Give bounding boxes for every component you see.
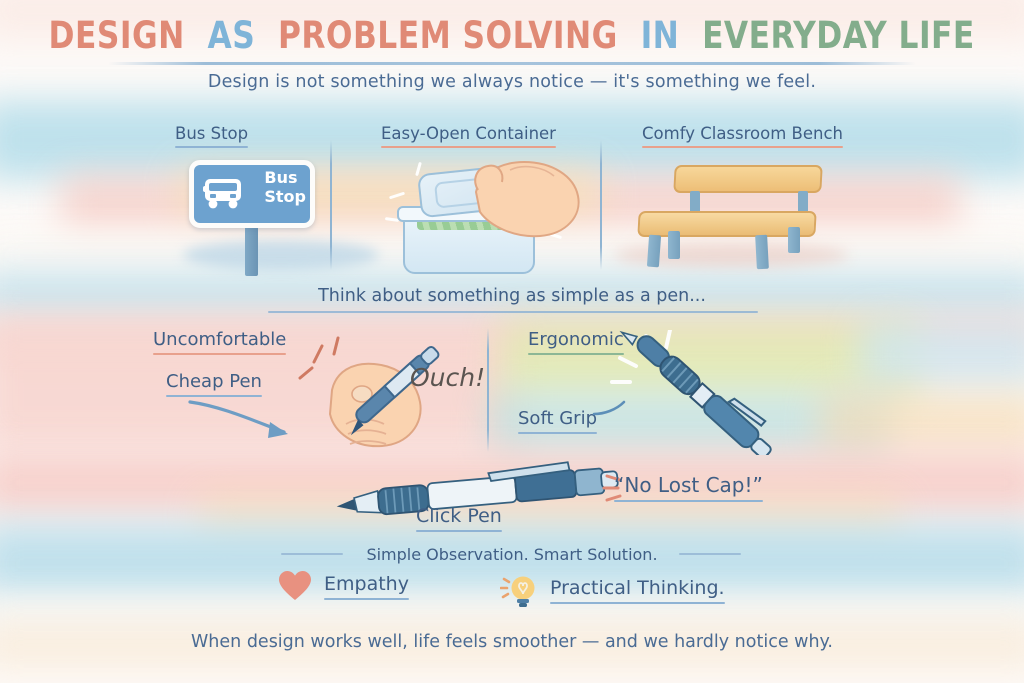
- mid-statement-underline: [268, 311, 758, 313]
- practical-thinking-label-wrap: Practical Thinking.: [550, 577, 725, 604]
- bus-sign-line1: Bus: [264, 168, 297, 187]
- wash-tan-right-pen: [820, 392, 1024, 452]
- bus-sign-text: Bus Stop: [264, 168, 306, 206]
- label-container-underline: [381, 146, 556, 148]
- hand-opening-container-icon: [470, 150, 590, 250]
- label-bench-underline: [642, 146, 843, 148]
- label-bus-stop-text: Bus Stop: [175, 124, 248, 143]
- bus-stop-sign: Bus Stop: [189, 160, 315, 228]
- label-uncomfortable-underline: [153, 353, 286, 355]
- label-comfy-classroom-bench: Comfy Classroom Bench: [642, 124, 843, 148]
- page-title-wrapper: DESIGN AS PROBLEM SOLVING IN EVERYDAY LI…: [0, 14, 1024, 57]
- hand-holding-pen-illustration: [290, 332, 490, 457]
- bench-illustration: [632, 165, 832, 265]
- empathy-label: Empathy: [324, 573, 409, 595]
- exclaim-ouch: Ouch!: [410, 363, 485, 392]
- title-underline: [108, 62, 916, 65]
- bench-leg: [788, 227, 800, 253]
- label-uncomfortable-text: Uncomfortable: [153, 329, 286, 350]
- label-click-pen-text: Click Pen: [416, 505, 502, 527]
- page-footer: When design works well, life feels smoot…: [0, 632, 1024, 652]
- label-easy-open-container: Easy-Open Container: [381, 124, 556, 148]
- label-cheap-pen: Cheap Pen: [166, 371, 262, 397]
- empathy-label-wrap: Empathy: [324, 573, 409, 600]
- divider-row1-right: [600, 140, 602, 270]
- heart-icon: [278, 570, 312, 602]
- label-bench-text: Comfy Classroom Bench: [642, 124, 843, 143]
- wash-blue-right-edge: [860, 320, 1024, 390]
- ergonomic-pen-illustration: [600, 330, 800, 455]
- lightbulb-icon: [500, 570, 540, 610]
- callout-no-lost-cap-text: “No Lost Cap!”: [614, 473, 763, 497]
- divider-row1-left: [330, 140, 332, 270]
- practical-thinking-label: Practical Thinking.: [550, 577, 725, 599]
- label-soft-grip-text: Soft Grip: [518, 408, 597, 429]
- empathy-underline: [324, 598, 409, 600]
- banner-rule-right: [679, 553, 741, 555]
- page-subtitle: Design is not something we always notice…: [0, 72, 1024, 92]
- bench-leg: [755, 235, 769, 270]
- mid-statement: Think about something as simple as a pen…: [0, 286, 1024, 306]
- bus-sign-post: [245, 226, 258, 276]
- label-container-text: Easy-Open Container: [381, 124, 556, 143]
- label-cheap-pen-text: Cheap Pen: [166, 371, 262, 392]
- callout-no-lost-cap: “No Lost Cap!”: [614, 473, 763, 502]
- title-part-in: IN: [641, 14, 680, 57]
- label-soft-grip: Soft Grip: [518, 408, 597, 434]
- label-bus-stop: Bus Stop: [175, 124, 248, 148]
- bus-sign-shadow: [183, 240, 379, 270]
- bus-icon: [201, 173, 245, 213]
- arrow-cheap-pen-icon: [186, 396, 306, 446]
- bench-leg: [647, 235, 661, 268]
- label-bus-stop-underline: [175, 146, 248, 148]
- title-part-design: DESIGN: [49, 14, 185, 57]
- title-part-as: AS: [208, 14, 256, 57]
- takeaway-item-practical-thinking: Practical Thinking.: [500, 570, 725, 610]
- page-title: DESIGN AS PROBLEM SOLVING IN EVERYDAY LI…: [49, 14, 975, 57]
- bench-backrest: [673, 165, 822, 193]
- takeaway-banner: Simple Observation. Smart Solution.: [0, 545, 1024, 564]
- callout-no-lost-cap-underline: [614, 500, 763, 502]
- bench-leg: [668, 231, 680, 259]
- label-click-pen: Click Pen: [416, 505, 502, 532]
- takeaway-item-empathy: Empathy: [278, 570, 409, 602]
- label-click-pen-underline: [416, 530, 502, 532]
- title-part-problem-solving: PROBLEM SOLVING: [278, 14, 618, 57]
- title-part-everyday-life: EVERYDAY LIFE: [702, 14, 975, 57]
- practical-thinking-underline: [550, 602, 725, 604]
- bus-sign-line2: Stop: [264, 187, 306, 206]
- label-uncomfortable: Uncomfortable: [153, 329, 286, 355]
- label-soft-grip-underline: [518, 432, 597, 434]
